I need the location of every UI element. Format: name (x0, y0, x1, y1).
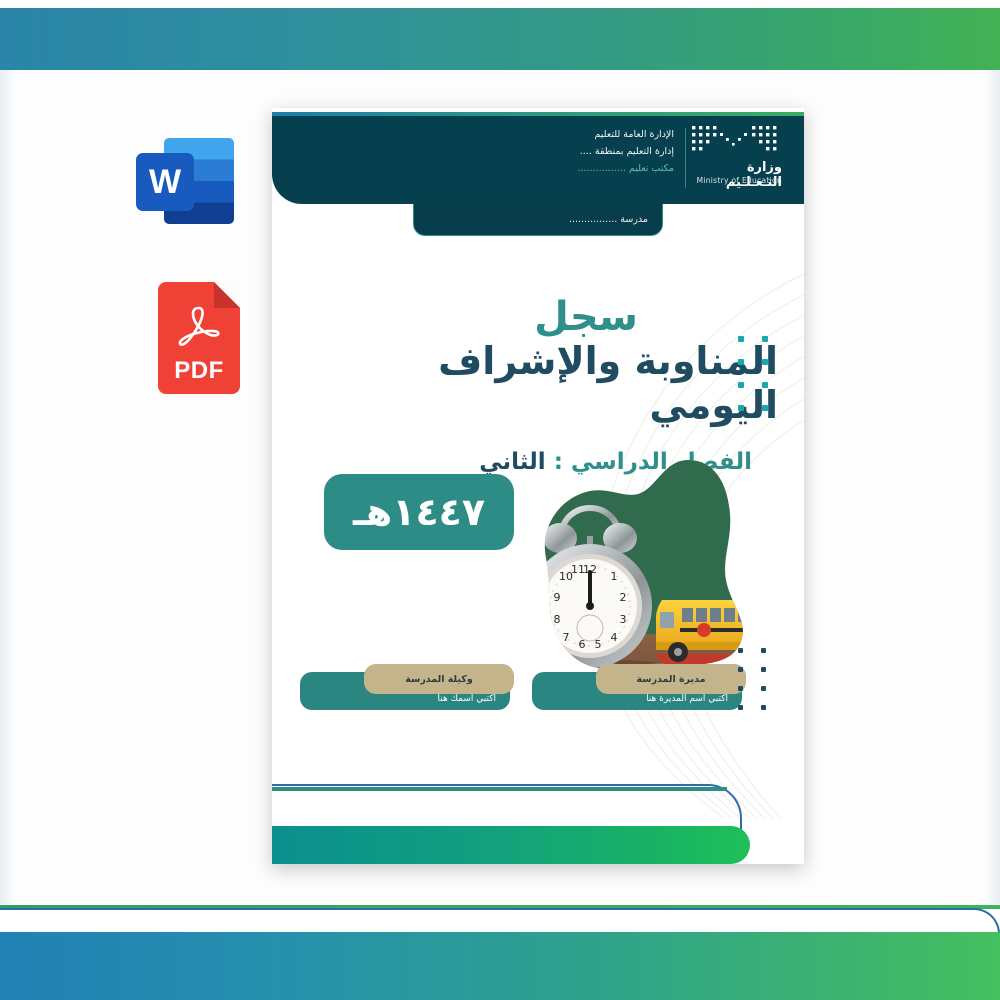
header-line-3: مكتب تعليم ................ (578, 160, 674, 177)
pdf-file-icon[interactable]: PDF (158, 282, 240, 394)
signature-placeholder-principal: اكتبي اسم المديرة هنا (646, 694, 728, 704)
page-bottom-gradient-bar (272, 826, 750, 864)
pdf-label: PDF (158, 357, 240, 385)
signature-block-principal[interactable]: اكتبي اسم المديرة هنا مديرة المدرسة (532, 664, 742, 710)
word-letter-tile: W (136, 153, 194, 211)
ministry-of-education-logo: وزارة التـعـلـيم Ministry of Education (690, 124, 782, 190)
svg-text:11: 11 (571, 563, 585, 576)
document-header-panel: الإدارة العامة للتعليم إدارة التعليم بمن… (272, 112, 804, 204)
svg-text:9: 9 (554, 591, 561, 604)
header-accent-line (272, 112, 804, 116)
signature-role-vice-text: وكيلة المدرسة (405, 674, 473, 685)
word-file-icon[interactable]: W (136, 128, 234, 224)
decorative-dots-signature (738, 648, 766, 710)
logo-dot-matrix-icon (690, 124, 782, 158)
signature-block-vice-principal[interactable]: اكتبي اسمك هنا وكيلة المدرسة (300, 664, 510, 710)
signature-role-principal: مديرة المدرسة (596, 664, 746, 694)
header-line-1: الإدارة العامة للتعليم (578, 126, 674, 143)
document-page-preview[interactable]: الإدارة العامة للتعليم إدارة التعليم بمن… (272, 108, 804, 864)
right-edge-shade (982, 70, 1000, 906)
svg-text:3: 3 (620, 613, 627, 626)
acrobat-swirl-icon (173, 302, 225, 362)
academic-year-badge: ١٤٤٧هـ (324, 474, 514, 550)
svg-text:7: 7 (563, 631, 570, 644)
screenshot-stage: W PDF الإ (0, 0, 1000, 1000)
logo-english-text: Ministry of Education (690, 176, 782, 185)
school-name-field[interactable]: مدرسة ................ (413, 204, 663, 236)
academic-year-text: ١٤٤٧هـ (353, 490, 485, 534)
title-line-1: سجل (308, 296, 778, 338)
title-line-2: المناوبة والإشراف اليومي (308, 340, 778, 427)
page-bottom-teal-line (272, 787, 727, 791)
svg-text:1: 1 (611, 570, 618, 583)
svg-text:4: 4 (611, 631, 618, 644)
logo-arabic-text: وزارة التـعـلـيم (690, 160, 782, 190)
signature-placeholder-vice: اكتبي اسمك هنا (438, 694, 496, 704)
svg-text:2: 2 (620, 591, 627, 604)
left-edge-shade (0, 70, 18, 906)
header-authority-lines: الإدارة العامة للتعليم إدارة التعليم بمن… (578, 126, 674, 177)
header-divider (685, 128, 686, 188)
decorative-dots-title (738, 336, 768, 411)
signature-role-principal-text: مديرة المدرسة (636, 674, 705, 685)
top-gradient-band (0, 8, 1000, 70)
bottom-gradient-band (0, 932, 1000, 1000)
school-name-text: مدرسة ................ (569, 214, 648, 225)
header-line-2: إدارة التعليم بمنطقة .... (578, 143, 674, 160)
svg-text:8: 8 (554, 613, 561, 626)
word-letter: W (149, 165, 181, 199)
signature-role-vice: وكيلة المدرسة (364, 664, 514, 694)
